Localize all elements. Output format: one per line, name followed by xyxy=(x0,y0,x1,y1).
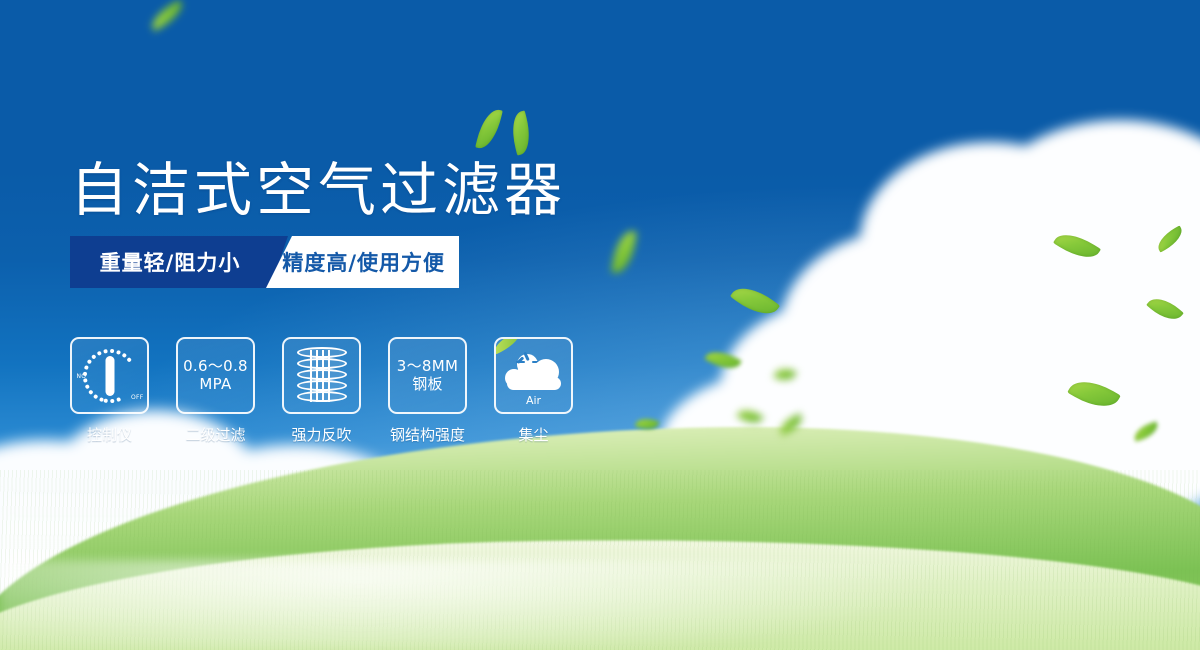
steel-thickness-text: 3～8MM xyxy=(397,357,458,375)
feature-label: 控制仪 xyxy=(87,424,132,445)
feature-label: 集尘 xyxy=(518,424,548,445)
feature-label: 二级过滤 xyxy=(185,424,245,445)
gauge-label-off: OFF xyxy=(131,394,144,401)
feature-item-steel[interactable]: 3～8MM 钢板 钢结构强度 xyxy=(388,337,467,445)
feature-icon-box: Air xyxy=(494,337,573,414)
feature-icon-box: 3～8MM 钢板 xyxy=(388,337,467,414)
page-title: 自洁式空气过滤器 xyxy=(70,143,566,227)
cloud-air-icon: Air xyxy=(503,347,565,405)
product-hero-banner: 自洁式空气过滤器 重量轻/阻力小 精度高/使用方便 xyxy=(0,0,1200,650)
filter-coil-icon xyxy=(297,347,347,405)
feature-icon-box xyxy=(282,337,361,414)
steel-plate-text-icon: 3～8MM 钢板 xyxy=(397,358,458,393)
feature-icon-box: NO OFF xyxy=(70,337,149,414)
steel-plate-text: 钢板 xyxy=(397,376,458,394)
subtitle-right-block: 精度高/使用方便 xyxy=(266,236,459,288)
gauge-label-no: NO xyxy=(77,373,87,380)
feature-item-dust-collect[interactable]: Air 集尘 xyxy=(494,337,573,445)
grass-highlight xyxy=(0,560,1200,650)
feature-list: NO OFF 控制仪 0.6～0.8 MPA 二级过滤 xyxy=(70,337,573,445)
feature-icon-box: 0.6～0.8 MPA xyxy=(176,337,255,414)
gauge-icon: NO OFF xyxy=(78,345,142,407)
feature-item-control-meter[interactable]: NO OFF 控制仪 xyxy=(70,337,149,445)
feature-item-backblow[interactable]: 强力反吹 xyxy=(282,337,361,445)
pressure-unit-text: MPA xyxy=(183,376,248,394)
feature-label: 钢结构强度 xyxy=(390,424,465,445)
air-text: Air xyxy=(503,394,565,407)
pressure-range-text: 0.6～0.8 xyxy=(183,357,248,375)
subtitle-left-block: 重量轻/阻力小 xyxy=(70,236,270,288)
feature-label: 强力反吹 xyxy=(291,424,351,445)
pressure-text-icon: 0.6～0.8 MPA xyxy=(183,358,248,393)
gauge-needle-icon xyxy=(105,356,114,396)
feature-item-pressure[interactable]: 0.6～0.8 MPA 二级过滤 xyxy=(176,337,255,445)
